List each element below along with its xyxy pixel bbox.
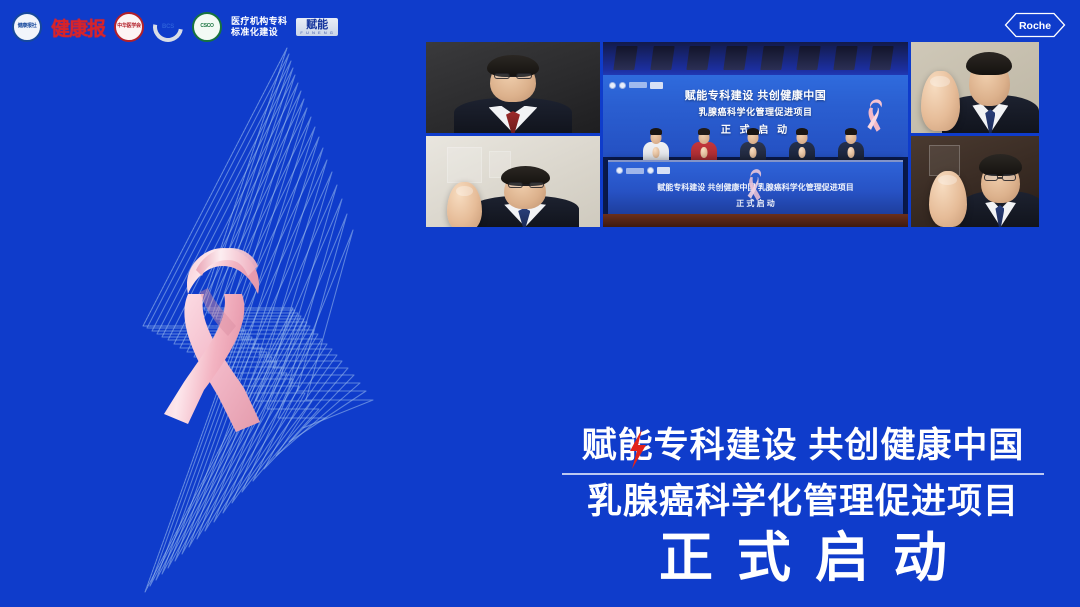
presenter-thumb-icon	[750, 147, 757, 158]
program-standardization-label: 医疗机构专科 标准化建设	[231, 16, 287, 39]
video-conference-grid: 赋能专科建设 共创健康中国 乳腺癌科学化管理促进项目 正 式 启 动	[426, 42, 1045, 227]
podium-ribbon-icon	[747, 167, 765, 204]
speaker-glasses-left-lens	[508, 182, 524, 188]
roche-wordmark: Roche	[1019, 20, 1051, 32]
video-column-left	[426, 42, 600, 227]
stage-scene: 赋能专科建设 共创健康中国 乳腺癌科学化管理促进项目 正 式 启 动	[603, 42, 908, 227]
video-tile-speaker-1[interactable]	[426, 42, 600, 133]
speaker-glasses-left-lens	[984, 174, 998, 181]
csco-seal-icon: CSCO	[192, 12, 222, 42]
presenter-thumb-icon	[847, 147, 854, 158]
mini-seal-icon	[616, 167, 623, 174]
speaker-glasses-left-lens	[494, 73, 510, 79]
health-news-wordmark: 健康报	[51, 14, 105, 41]
cma-seal-icon: 中华医学会	[114, 12, 144, 42]
wall-frame-decor	[447, 147, 482, 183]
speaker-hair	[966, 52, 1012, 75]
presenter-hair	[796, 128, 808, 135]
thumbs-up-hand-icon	[921, 71, 959, 131]
csco-seal-label: CSCO	[200, 24, 213, 29]
speaker-glasses-right-lens	[516, 73, 532, 79]
video-tile-main-stage[interactable]: 赋能专科建设 共创健康中国 乳腺癌科学化管理促进项目 正 式 启 动	[603, 42, 908, 227]
bcs-crescent-icon: BCS	[153, 12, 183, 42]
video-tile-speaker-3[interactable]	[911, 42, 1039, 133]
stage-light-icon	[760, 46, 785, 70]
headline-line-1: 赋能专科建设 共创健康中国	[582, 426, 1025, 465]
presenter-thumb-icon	[799, 147, 806, 158]
speaker-glasses-right-lens	[529, 182, 545, 188]
speaker-glasses-bridge	[523, 184, 528, 186]
health-news-seal-label: 健康报社	[18, 24, 37, 29]
video-column-right	[911, 42, 1039, 227]
stage-light-icon	[687, 46, 712, 70]
funeng-badge-label: 赋能	[306, 19, 328, 31]
video-tile-speaker-4[interactable]	[911, 136, 1039, 227]
thumbs-up-hand-icon	[447, 182, 482, 228]
pink-ribbon-graphic	[148, 236, 298, 436]
thumb-nail	[938, 175, 957, 185]
health-news-seal-icon: 健康报社	[12, 12, 42, 42]
partner-logo-bar: 健康报社 健康报 中华医学会 BCS CSCO 医疗机构专科 标准化建设 赋能 …	[12, 9, 338, 45]
speaker-hair	[979, 154, 1023, 176]
podium-logo-row	[616, 167, 670, 174]
presenter-hair	[698, 128, 710, 135]
program-label-line2: 标准化建设	[231, 27, 287, 38]
thumb-nail	[930, 76, 949, 87]
headline-block: 赋能专科建设 共创健康中国 乳腺癌科学化管理促进项目 正式启动	[560, 426, 1046, 589]
funeng-badge-sublabel: F U N E N G	[300, 31, 333, 35]
stage-light-icon	[833, 46, 858, 70]
headline-divider	[562, 473, 1044, 475]
presenter-hair	[747, 128, 759, 135]
video-tile-speaker-2[interactable]	[426, 136, 600, 227]
stage-podium: 赋能专科建设 共创健康中国 乳腺癌科学化管理促进项目 正 式 启 动	[608, 160, 904, 216]
cma-seal-label: 中华医学会	[117, 24, 141, 29]
mini-wordmark	[626, 168, 644, 174]
speaker-glasses-bridge	[510, 76, 517, 78]
stage-light-icon	[870, 46, 895, 70]
roche-logo: Roche	[1004, 12, 1066, 38]
presenter-hair	[845, 128, 857, 135]
speaker-glasses-right-lens	[1002, 174, 1016, 181]
headline-line-3: 正式启动	[560, 527, 1046, 589]
mini-seal-icon	[647, 167, 654, 174]
video-column-center: 赋能专科建设 共创健康中国 乳腺癌科学化管理促进项目 正 式 启 动	[603, 42, 908, 227]
headline-line-1-wrap: 赋能专科建设 共创健康中国	[582, 426, 1025, 465]
stage-light-icon	[650, 46, 675, 70]
stage-light-icon	[613, 46, 638, 70]
presenter-thumb-icon	[652, 147, 659, 158]
mini-badge-icon	[657, 167, 670, 174]
stage-ceiling	[603, 42, 908, 79]
stage-light-icon	[723, 46, 748, 70]
slide-canvas: 健康报社 健康报 中华医学会 BCS CSCO 医疗机构专科 标准化建设 赋能 …	[0, 0, 1080, 607]
funeng-badge: 赋能 F U N E N G	[296, 18, 337, 37]
presenter-thumb-icon	[701, 147, 708, 158]
headline-line-2: 乳腺癌科学化管理促进项目	[560, 482, 1046, 521]
speaker-glasses-bridge	[998, 177, 1002, 179]
thumb-nail	[456, 186, 473, 196]
program-label-line1: 医疗机构专科	[231, 16, 287, 27]
stage-floor	[603, 214, 908, 227]
presenter-hair	[650, 128, 662, 135]
stage-light-icon	[796, 46, 821, 70]
crescent-arc-icon	[147, 6, 189, 48]
